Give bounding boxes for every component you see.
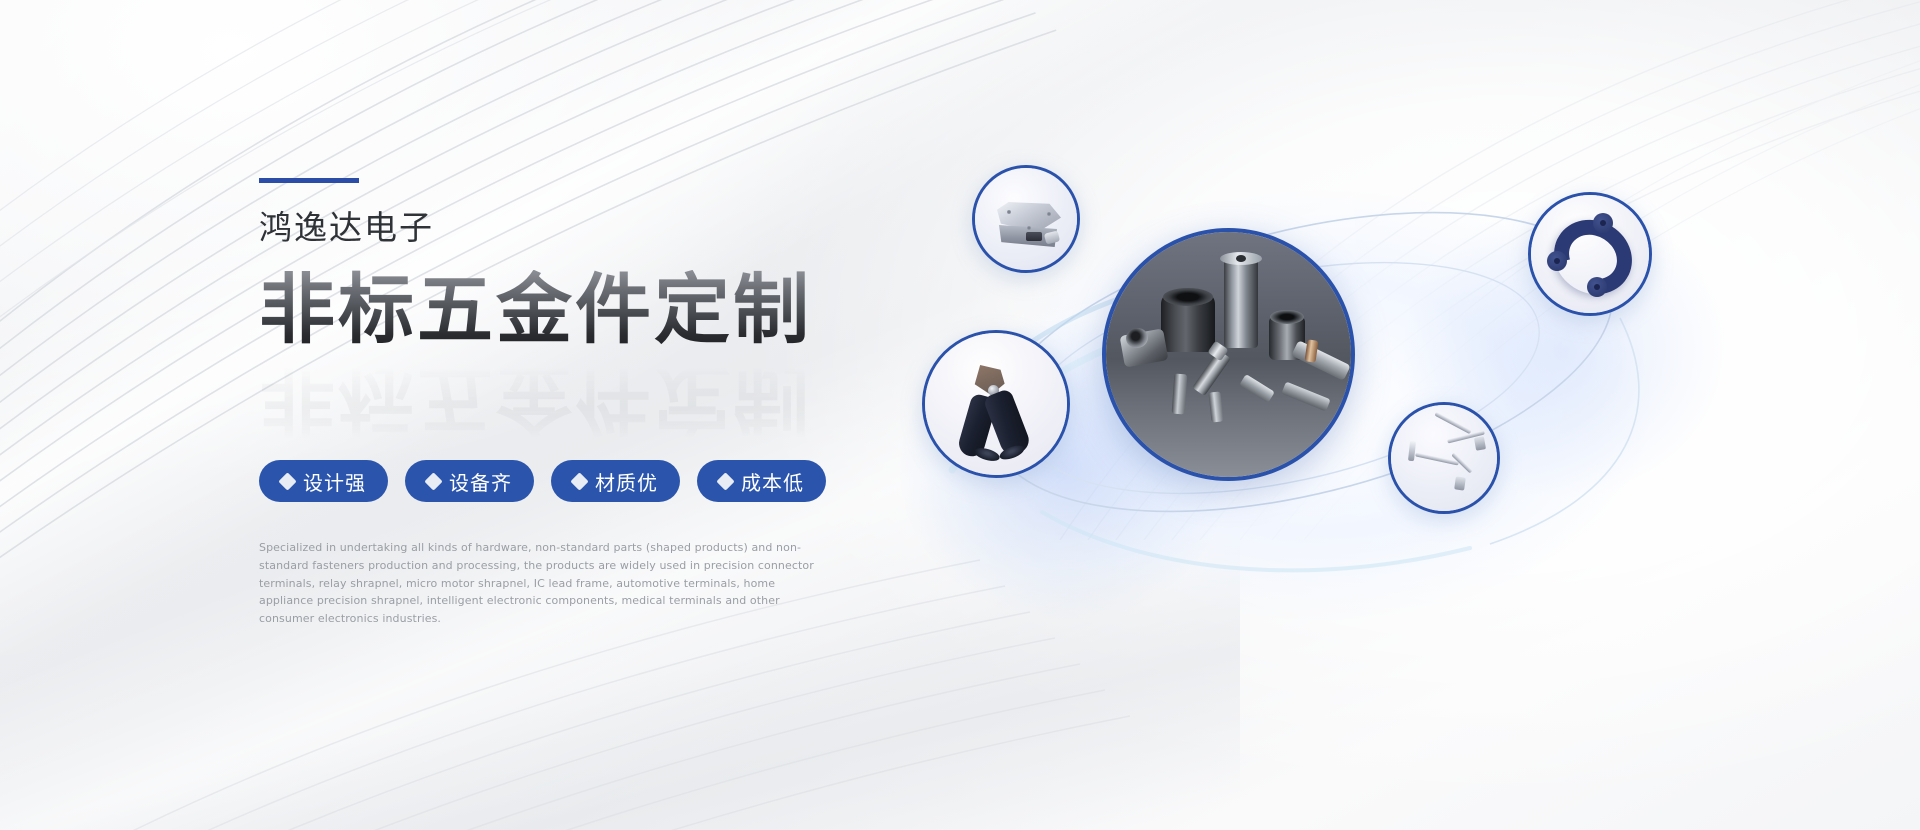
part-stamped-lever-2 (1281, 381, 1330, 411)
feature-badge-cost[interactable]: 成本低 (697, 460, 826, 502)
part-cylinder-bore (1236, 255, 1246, 262)
product-showcase (930, 140, 1730, 660)
diamond-icon (570, 472, 588, 490)
diamond-icon (424, 472, 442, 490)
company-description: Specialized in undertaking all kinds of … (259, 539, 821, 628)
blue-c-ring-photo (1531, 195, 1649, 313)
copper-clamp-photo (925, 333, 1067, 475)
pin-lower-leg (1408, 441, 1416, 462)
feature-badge-label: 材质优 (595, 467, 658, 496)
part-large-socket-opening (1163, 288, 1213, 306)
feature-badge-label: 成本低 (741, 467, 804, 496)
part-threaded-plug (1192, 350, 1231, 396)
feature-badge-design[interactable]: 设计强 (259, 460, 388, 502)
feature-badge-material[interactable]: 材质优 (551, 460, 680, 502)
enclosure-tab (1044, 230, 1060, 244)
brand-name: 鸿逸达电子 (259, 211, 899, 244)
machined-parts-photo (1106, 232, 1351, 477)
pin-upper-arm (1434, 412, 1471, 434)
enclosure-screw (1027, 226, 1031, 230)
part-medium-socket-opening (1270, 310, 1304, 324)
product-bubble-metal-enclosure[interactable] (972, 165, 1080, 273)
hero-banner: 鸿逸达电子 非标五金件定制 非标五金件定制 设计强 设备齐 材质优 成本低 (0, 0, 1920, 830)
part-pin-c (1239, 374, 1275, 403)
headline-reflection: 非标五金件定制 (259, 358, 812, 439)
product-bubble-bent-pins[interactable] (1388, 402, 1500, 514)
banner-copy-block: 鸿逸达电子 非标五金件定制 非标五金件定制 设计强 设备齐 材质优 成本低 (259, 178, 899, 628)
enclosure-screw (1007, 210, 1011, 214)
enclosure-screw (1047, 212, 1051, 216)
pin-upper-foot (1474, 436, 1486, 451)
feature-badge-list: 设计强 设备齐 材质优 成本低 (259, 460, 899, 502)
product-bubble-blue-c-ring[interactable] (1528, 192, 1652, 316)
page-title: 非标五金件定制 (259, 270, 899, 351)
part-tall-cylinder (1224, 258, 1258, 348)
part-stamped-lever (1291, 340, 1351, 381)
feature-badge-equipment[interactable]: 设备齐 (405, 460, 534, 502)
pin-lower-foot (1454, 476, 1466, 490)
feature-badge-label: 设备齐 (449, 467, 512, 496)
feature-badge-label: 设计强 (303, 467, 366, 496)
part-pin-b (1208, 391, 1223, 422)
headline-wrapper: 非标五金件定制 非标五金件定制 (259, 270, 899, 430)
c-ring-lug (1587, 277, 1607, 297)
c-ring-lug (1593, 213, 1613, 233)
accent-rule-divider (259, 178, 359, 183)
enclosure-port (1026, 232, 1042, 241)
clamp-handle-tip (973, 446, 1001, 464)
diamond-icon (278, 472, 296, 490)
product-bubble-copper-clamp[interactable] (922, 330, 1070, 478)
bent-terminal-pins-photo (1391, 405, 1497, 511)
metal-enclosure-photo (975, 168, 1077, 270)
c-ring-lug (1547, 251, 1567, 271)
product-bubble-machined-metal-parts[interactable] (1102, 228, 1355, 481)
part-pin-a (1172, 374, 1188, 415)
diamond-icon (716, 472, 734, 490)
